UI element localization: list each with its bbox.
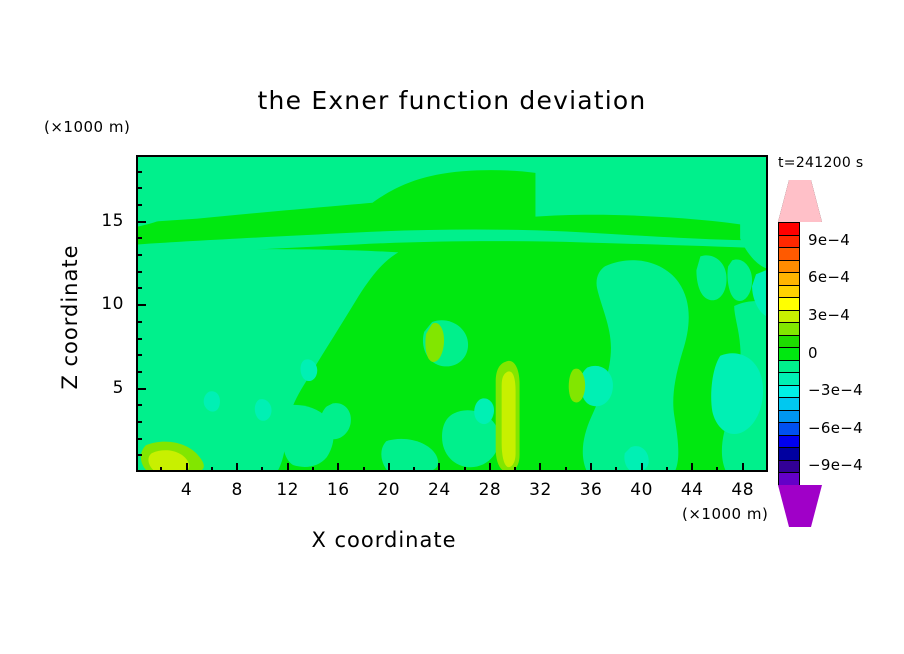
x-tick-label: 40 — [620, 480, 664, 500]
x-tick — [337, 463, 339, 472]
colorbar-segment — [778, 435, 800, 448]
y-minor-tick — [136, 171, 142, 173]
colorbar-segment — [778, 372, 800, 385]
colorbar-tick-label: 6e−4 — [808, 268, 850, 286]
colorbar-segment — [778, 272, 800, 285]
chart-title: the Exner function deviation — [0, 86, 904, 115]
x-tick — [539, 463, 541, 472]
contour-field — [138, 157, 766, 472]
x-tick-label: 16 — [316, 480, 360, 500]
colorbar-segment — [778, 360, 800, 373]
x-minor-tick — [514, 467, 516, 472]
colorbar-min-arrow — [778, 485, 822, 527]
colorbar-segment — [778, 447, 800, 460]
colorbar-segment — [778, 285, 800, 298]
x-tick-label: 36 — [569, 480, 613, 500]
y-tick-label: 5 — [84, 378, 124, 398]
y-minor-tick — [136, 254, 142, 256]
colorbar-segment — [778, 410, 800, 423]
x-minor-tick — [160, 467, 162, 472]
x-tick-label: 28 — [468, 480, 512, 500]
x-tick — [438, 463, 440, 472]
colorbar-max-arrow — [778, 180, 822, 222]
colorbar-segment — [778, 310, 800, 323]
y-axis-unit-label: (×1000 m) — [44, 118, 130, 136]
x-tick-label: 20 — [367, 480, 411, 500]
colorbar-segment — [778, 297, 800, 310]
x-axis-title: X coordinate — [0, 528, 768, 552]
y-minor-tick — [136, 187, 142, 189]
timestamp-label: t=241200 s — [778, 155, 863, 171]
colorbar-segment — [778, 422, 800, 435]
y-tick — [136, 388, 146, 390]
x-minor-tick — [312, 467, 314, 472]
y-minor-tick — [136, 321, 142, 323]
x-tick-label: 44 — [670, 480, 714, 500]
colorbar: 9e−46e−43e−40−3e−4−6e−4−9e−4 — [778, 222, 800, 485]
colorbar-segment — [778, 235, 800, 248]
x-tick-label: 8 — [215, 480, 259, 500]
x-minor-tick — [565, 467, 567, 472]
x-tick-label: 32 — [518, 480, 562, 500]
colorbar-segment — [778, 385, 800, 398]
y-tick — [136, 221, 146, 223]
y-minor-tick — [136, 287, 142, 289]
x-tick — [489, 463, 491, 472]
y-minor-tick — [136, 338, 142, 340]
colorbar-tick-label: 3e−4 — [808, 306, 850, 324]
y-tick-label: 10 — [84, 294, 124, 314]
colorbar-segment — [778, 222, 800, 235]
y-minor-tick — [136, 271, 142, 273]
x-minor-tick — [363, 467, 365, 472]
y-minor-tick — [136, 371, 142, 373]
colorbar-segment — [778, 472, 800, 485]
colorbar-segment — [778, 335, 800, 348]
x-minor-tick — [413, 467, 415, 472]
colorbar-tick-label: −3e−4 — [808, 381, 863, 399]
y-minor-tick — [136, 204, 142, 206]
x-tick — [590, 463, 592, 472]
x-minor-tick — [464, 467, 466, 472]
x-minor-tick — [615, 467, 617, 472]
y-minor-tick — [136, 421, 142, 423]
y-axis-title: Z coordinate — [58, 187, 82, 447]
colorbar-tick-label: −6e−4 — [808, 419, 863, 437]
x-tick-label: 48 — [721, 480, 765, 500]
x-tick — [236, 463, 238, 472]
x-minor-tick — [211, 467, 213, 472]
x-axis-unit-label: (×1000 m) — [682, 505, 768, 523]
colorbar-segment — [778, 260, 800, 273]
y-minor-tick — [136, 237, 142, 239]
colorbar-tick-label: 0 — [808, 344, 818, 362]
y-minor-tick — [136, 354, 142, 356]
x-tick — [691, 463, 693, 472]
x-tick — [287, 463, 289, 472]
y-minor-tick — [136, 454, 142, 456]
x-tick-label: 24 — [417, 480, 461, 500]
x-minor-tick — [261, 467, 263, 472]
x-tick — [186, 463, 188, 472]
colorbar-tick-label: 9e−4 — [808, 231, 850, 249]
contour-plot-area — [136, 155, 768, 472]
colorbar-segment — [778, 460, 800, 473]
x-tick — [742, 463, 744, 472]
x-minor-tick — [666, 467, 668, 472]
colorbar-tick-label: −9e−4 — [808, 456, 863, 474]
x-minor-tick — [716, 467, 718, 472]
x-tick — [641, 463, 643, 472]
y-minor-tick — [136, 438, 142, 440]
y-tick — [136, 304, 146, 306]
colorbar-segment — [778, 247, 800, 260]
colorbar-segment — [778, 322, 800, 335]
x-tick — [388, 463, 390, 472]
y-tick-label: 15 — [84, 211, 124, 231]
y-minor-tick — [136, 404, 142, 406]
colorbar-segment — [778, 347, 800, 360]
colorbar-segment — [778, 397, 800, 410]
x-tick-label: 4 — [165, 480, 209, 500]
x-tick-label: 12 — [266, 480, 310, 500]
